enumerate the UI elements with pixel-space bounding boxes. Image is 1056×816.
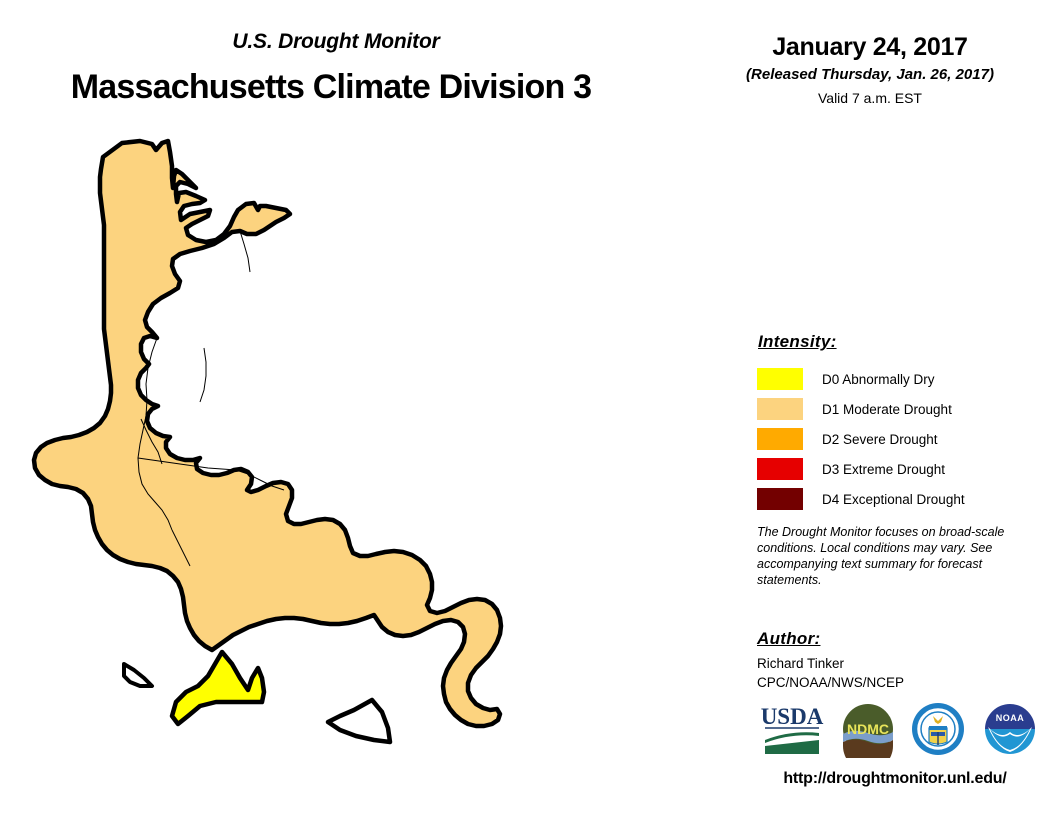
drought-map xyxy=(0,130,740,816)
program-title: U.S. Drought Monitor xyxy=(0,30,672,54)
legend-item-d0: D0 Abnormally Dry xyxy=(757,364,1047,394)
legend-label-d1: D1 Moderate Drought xyxy=(822,402,952,417)
legend-swatch-d3 xyxy=(757,458,803,480)
legend-label-d3: D3 Extreme Drought xyxy=(822,462,945,477)
website-url[interactable]: http://droughtmonitor.unl.edu/ xyxy=(745,770,1045,788)
release-date: (Released Thursday, Jan. 26, 2017) xyxy=(700,66,1040,83)
author-name: Richard Tinker xyxy=(757,656,844,671)
legend-swatch-d4 xyxy=(757,488,803,510)
ndmc-logo: NDMC xyxy=(839,700,897,758)
map-geometry xyxy=(0,130,740,816)
legend-item-d2: D2 Severe Drought xyxy=(757,424,1047,454)
legend-swatch-d1 xyxy=(757,398,803,420)
legend-swatch-d2 xyxy=(757,428,803,450)
svg-text:NOAA: NOAA xyxy=(996,713,1025,723)
legend-item-d1: D1 Moderate Drought xyxy=(757,394,1047,424)
disclaimer-text: The Drought Monitor focuses on broad-sca… xyxy=(757,524,1025,588)
valid-time: Valid 7 a.m. EST xyxy=(700,90,1040,106)
map-date: January 24, 2017 xyxy=(700,33,1040,62)
legend-label-d2: D2 Severe Drought xyxy=(822,432,938,447)
page-title: Massachusetts Climate Division 3 xyxy=(0,68,676,107)
noaa-logo: NOAA xyxy=(981,700,1039,758)
author-heading: Author: xyxy=(757,629,820,649)
svg-text:USDA: USDA xyxy=(761,704,824,729)
legend-label-d0: D0 Abnormally Dry xyxy=(822,372,935,387)
author-affiliation: CPC/NOAA/NWS/NCEP xyxy=(757,675,904,690)
svg-text:NDMC: NDMC xyxy=(847,721,889,737)
legend-label-d4: D4 Exceptional Drought xyxy=(822,492,965,507)
usda-logo: USDA xyxy=(759,700,825,758)
legend-item-d4: D4 Exceptional Drought xyxy=(757,484,1047,514)
nws-seal xyxy=(909,700,967,758)
intensity-legend: Intensity: D0 Abnormally Dry D1 Moderate… xyxy=(757,332,1047,514)
legend-heading: Intensity: xyxy=(758,332,1047,352)
agency-logos: USDA NDMC NOAA xyxy=(755,700,1045,762)
legend-item-d3: D3 Extreme Drought xyxy=(757,454,1047,484)
legend-swatch-d0 xyxy=(757,368,803,390)
